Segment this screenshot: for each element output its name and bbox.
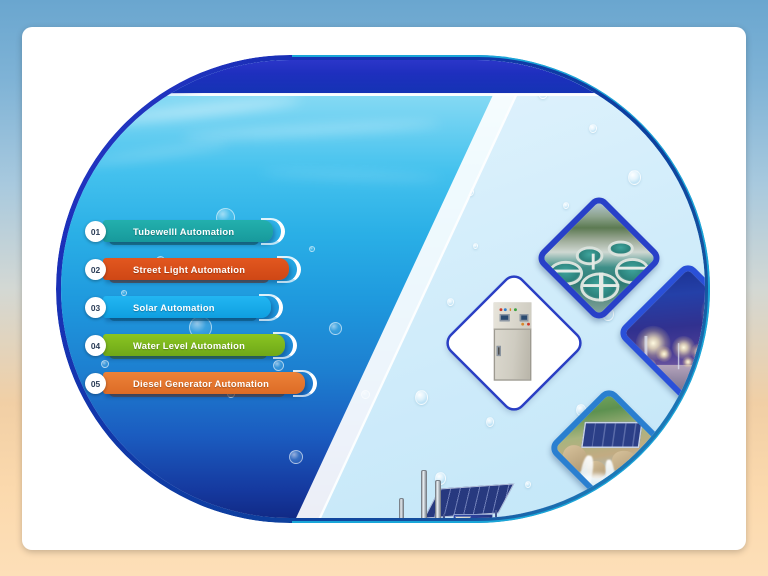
feature-badge-4: 04 [85, 335, 106, 356]
feature-pill-4[interactable]: Water Level Automation [103, 334, 285, 356]
list-item[interactable]: Solar Automation 03 [85, 296, 320, 324]
slide-sheet: Tubewelll Automation 01 Street Light Aut… [22, 27, 746, 550]
pill-swoosh-4 [273, 332, 297, 359]
top-highlight-line [95, 93, 697, 96]
feature-badge-2: 02 [85, 259, 106, 280]
pill-swoosh-3 [259, 294, 283, 321]
feature-pill-2[interactable]: Street Light Automation [103, 258, 289, 280]
feature-label-3: Solar Automation [133, 302, 215, 313]
feature-label-4: Water Level Automation [133, 340, 245, 351]
list-item[interactable]: Water Level Automation 04 [85, 334, 320, 362]
list-item[interactable]: Diesel Generator Automation 05 [85, 372, 320, 400]
feature-list: Tubewelll Automation 01 Street Light Aut… [85, 220, 320, 410]
feature-badge-1: 01 [85, 221, 106, 242]
pill-swoosh-5 [293, 370, 317, 397]
slide-canvas: Tubewelll Automation 01 Street Light Aut… [0, 0, 768, 576]
feature-label-5: Diesel Generator Automation [133, 378, 269, 389]
list-item[interactable]: Street Light Automation 02 [85, 258, 320, 286]
pill-swoosh-2 [277, 256, 301, 283]
feature-badge-3: 03 [85, 297, 106, 318]
pill-swoosh-1 [261, 218, 285, 245]
feature-pill-3[interactable]: Solar Automation [103, 296, 271, 318]
feature-pill-5[interactable]: Diesel Generator Automation [103, 372, 305, 394]
solar-pump-system-image [391, 458, 526, 518]
feature-label-1: Tubewelll Automation [133, 226, 234, 237]
feature-badge-5: 05 [85, 373, 106, 394]
top-accent-band [61, 60, 705, 94]
list-item[interactable]: Tubewelll Automation 01 [85, 220, 320, 248]
capsule-graphic: Tubewelll Automation 01 Street Light Aut… [56, 55, 710, 523]
feature-pill-1[interactable]: Tubewelll Automation [103, 220, 273, 242]
feature-label-2: Street Light Automation [133, 264, 245, 275]
capsule-artwork: Tubewelll Automation 01 Street Light Aut… [61, 60, 705, 518]
